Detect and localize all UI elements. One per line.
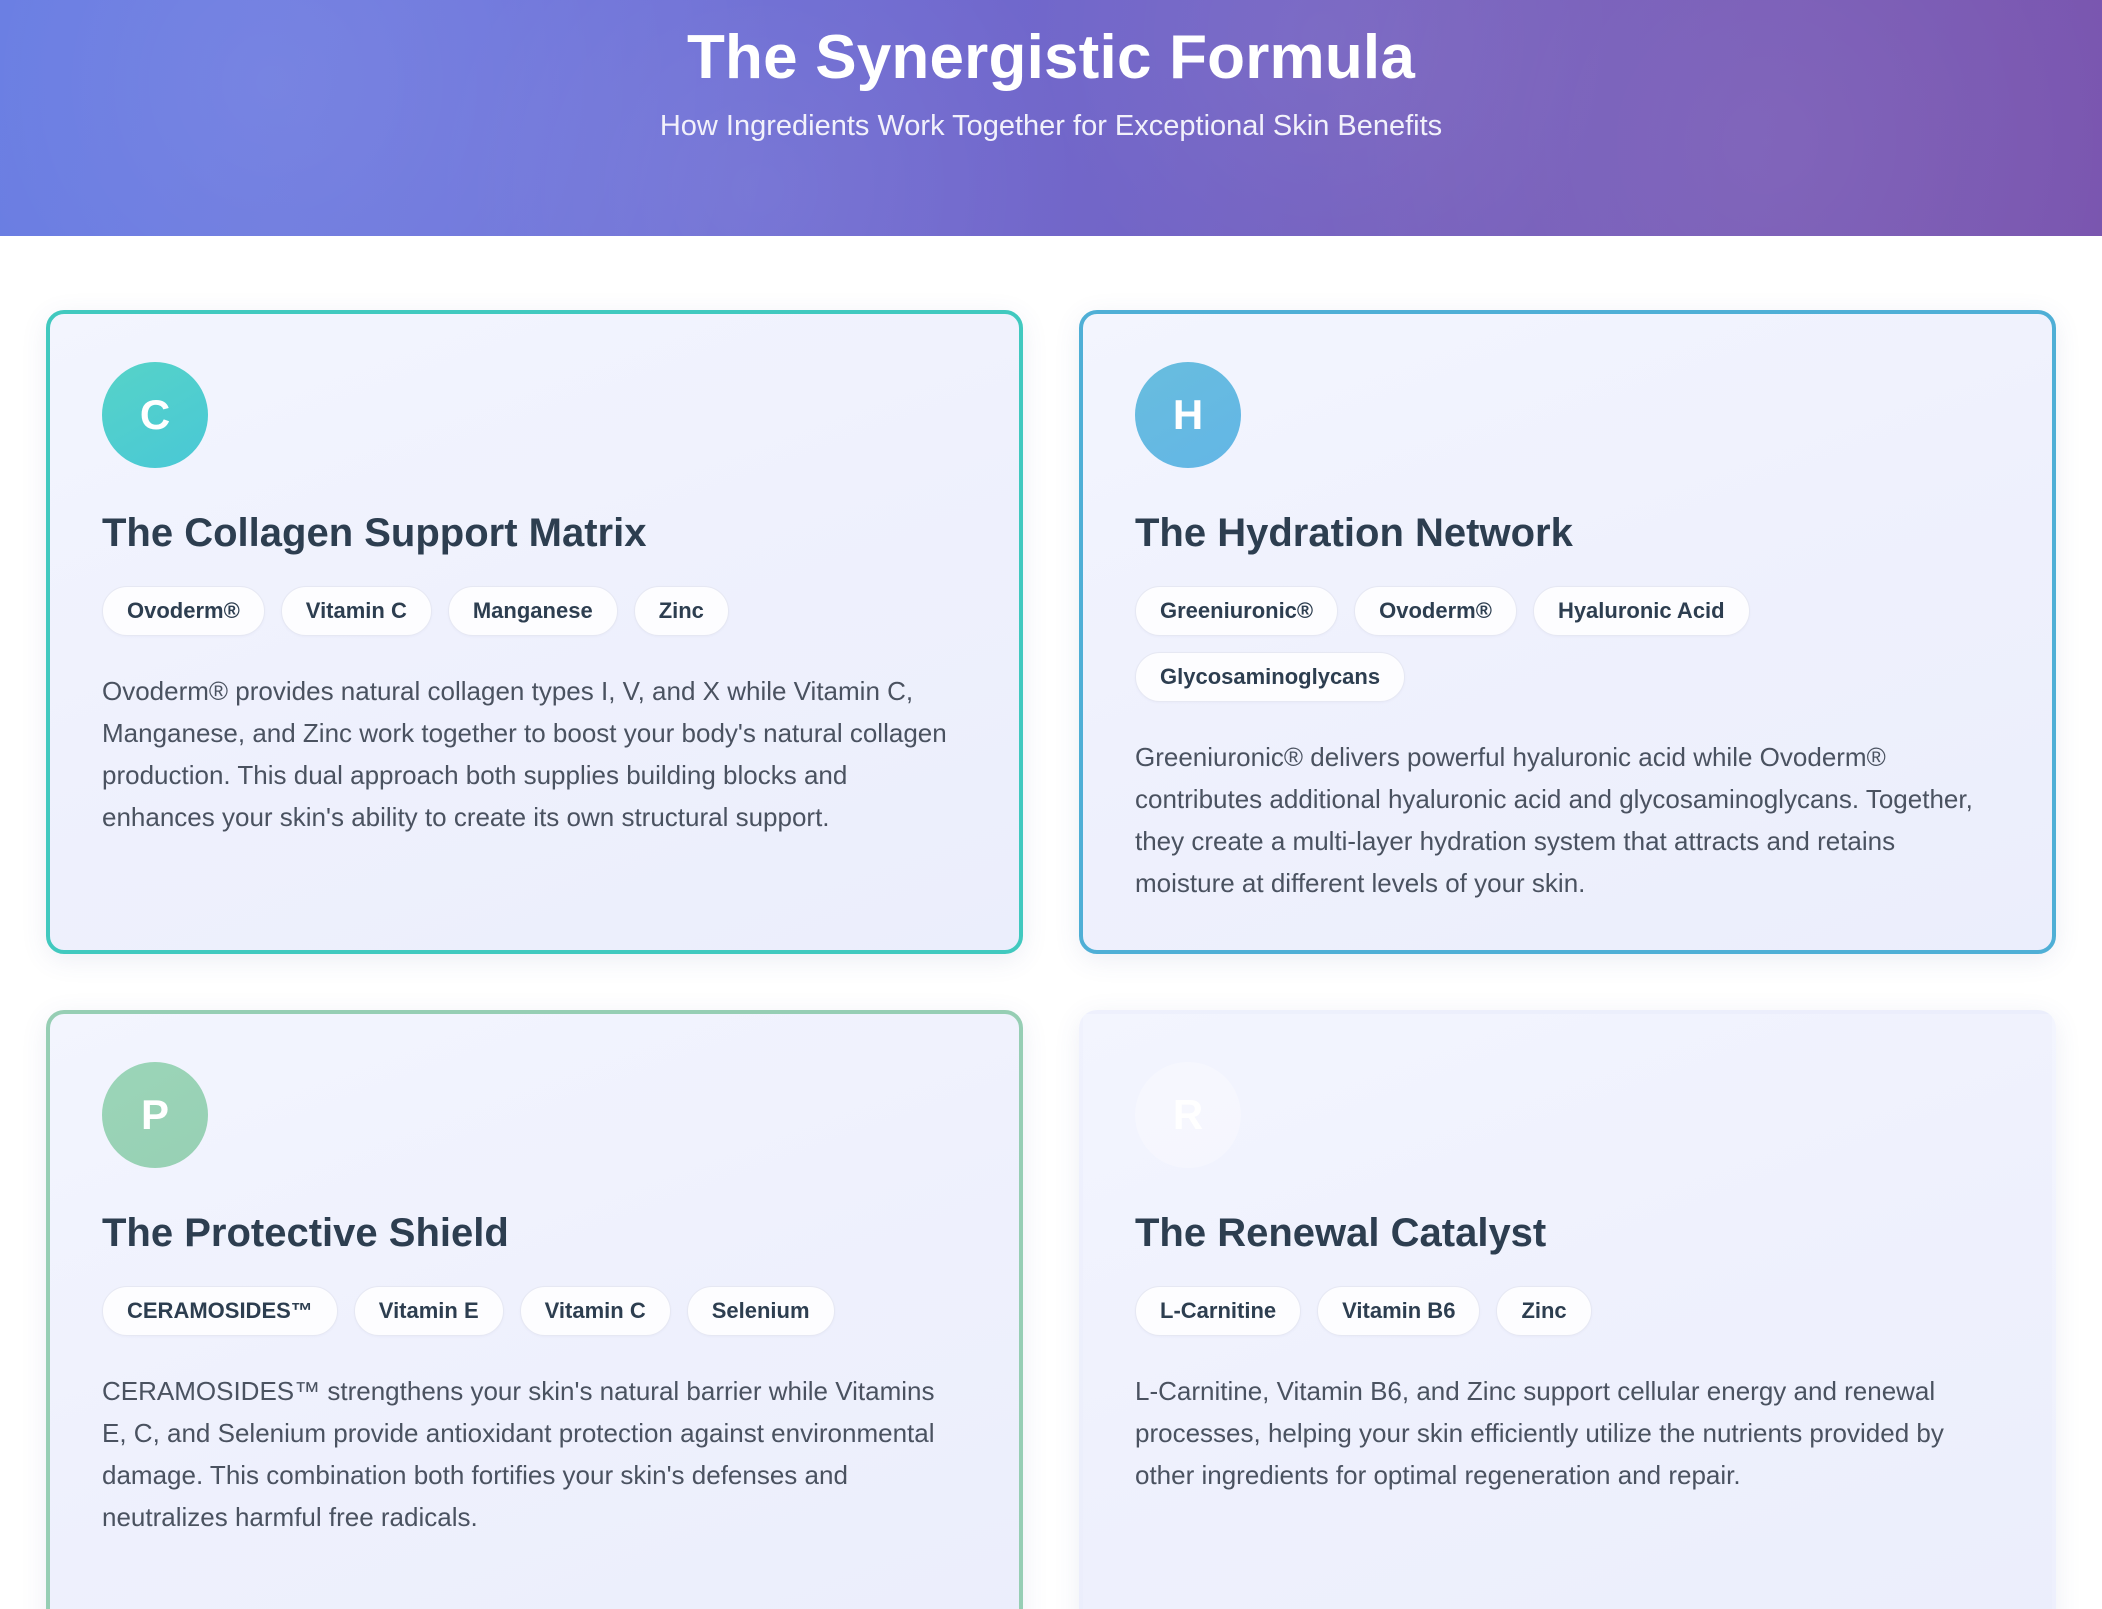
ingredient-pill[interactable]: Zinc <box>1496 1286 1591 1336</box>
card-description: L-Carnitine, Vitamin B6, and Zinc suppor… <box>1135 1370 1995 1496</box>
formula-card-protective-shield[interactable]: P The Protective Shield CERAMOSIDES™ Vit… <box>46 1010 1023 1609</box>
badge-icon-hydration: H <box>1135 362 1241 468</box>
formula-card-collagen-support-matrix[interactable]: C The Collagen Support Matrix Ovoderm® V… <box>46 310 1023 954</box>
ingredient-pill-list: CERAMOSIDES™ Vitamin E Vitamin C Seleniu… <box>102 1286 967 1336</box>
card-description: Greeniuronic® delivers powerful hyaluron… <box>1135 736 1995 904</box>
card-title: The Protective Shield <box>102 1210 967 1256</box>
ingredient-pill[interactable]: Vitamin C <box>520 1286 671 1336</box>
badge-letter: R <box>1173 1091 1203 1139</box>
card-title: The Hydration Network <box>1135 510 2000 556</box>
ingredient-pill[interactable]: Manganese <box>448 586 618 636</box>
page-header: The Synergistic Formula How Ingredients … <box>0 0 2102 236</box>
page-title: The Synergistic Formula <box>687 22 1415 94</box>
ingredient-pill-list: Greeniuronic® Ovoderm® Hyaluronic Acid G… <box>1135 586 2000 702</box>
ingredient-pill[interactable]: Selenium <box>687 1286 835 1336</box>
ingredient-pill[interactable]: CERAMOSIDES™ <box>102 1286 338 1336</box>
ingredient-pill[interactable]: Ovoderm® <box>102 586 265 636</box>
ingredient-pill-list: Ovoderm® Vitamin C Manganese Zinc <box>102 586 967 636</box>
ingredient-pill-list: L-Carnitine Vitamin B6 Zinc <box>1135 1286 2000 1336</box>
page-subtitle: How Ingredients Work Together for Except… <box>660 110 1442 143</box>
card-title: The Collagen Support Matrix <box>102 510 967 556</box>
ingredient-pill[interactable]: Zinc <box>634 586 729 636</box>
card-description: CERAMOSIDES™ strengthens your skin's nat… <box>102 1370 962 1538</box>
badge-icon-renewal: R <box>1135 1062 1241 1168</box>
badge-letter: P <box>141 1091 169 1139</box>
ingredient-pill[interactable]: L-Carnitine <box>1135 1286 1301 1336</box>
ingredient-pill[interactable]: Hyaluronic Acid <box>1533 586 1750 636</box>
ingredient-pill[interactable]: Glycosaminoglycans <box>1135 652 1405 702</box>
card-description: Ovoderm® provides natural collagen types… <box>102 670 962 838</box>
formula-card-grid: C The Collagen Support Matrix Ovoderm® V… <box>0 236 2102 1609</box>
ingredient-pill[interactable]: Vitamin B6 <box>1317 1286 1480 1336</box>
ingredient-pill[interactable]: Vitamin C <box>281 586 432 636</box>
formula-card-renewal-catalyst[interactable]: R The Renewal Catalyst L-Carnitine Vitam… <box>1079 1010 2056 1609</box>
badge-icon-collagen: C <box>102 362 208 468</box>
badge-letter: C <box>140 391 170 439</box>
badge-letter: H <box>1173 391 1203 439</box>
card-title: The Renewal Catalyst <box>1135 1210 2000 1256</box>
badge-icon-protective: P <box>102 1062 208 1168</box>
ingredient-pill[interactable]: Greeniuronic® <box>1135 586 1338 636</box>
formula-card-hydration-network[interactable]: H The Hydration Network Greeniuronic® Ov… <box>1079 310 2056 954</box>
ingredient-pill[interactable]: Vitamin E <box>354 1286 504 1336</box>
ingredient-pill[interactable]: Ovoderm® <box>1354 586 1517 636</box>
